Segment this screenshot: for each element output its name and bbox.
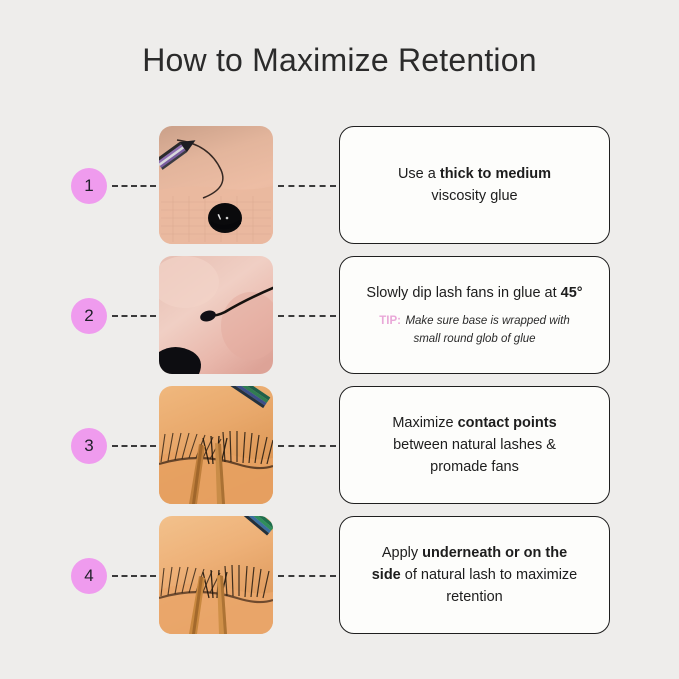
step-number-badge-3: 3 <box>71 428 107 464</box>
connector-dash-right-2 <box>278 315 336 317</box>
step-row-4: 4 <box>0 516 679 634</box>
connector-dash-left-4 <box>112 575 156 577</box>
step-text-line: side of natural lash to maximize <box>372 564 578 586</box>
step-number-badge-4: 4 <box>71 558 107 594</box>
step-row-3: 3 <box>0 386 679 504</box>
step-row-1: 1 <box>0 126 679 244</box>
step-text-line: Slowly dip lash fans in glue at 45° <box>366 282 582 304</box>
step-text-line: Apply underneath or on the <box>382 542 567 564</box>
step-number-badge-1: 1 <box>71 168 107 204</box>
tip-text-line: small round glob of glue <box>379 331 569 348</box>
step-photo-2 <box>159 256 273 374</box>
infographic-page: How to Maximize Retention 1 <box>0 0 679 679</box>
step-number-badge-2: 2 <box>71 298 107 334</box>
step-number-label: 1 <box>84 176 93 196</box>
page-title: How to Maximize Retention <box>0 42 679 79</box>
tip-label: TIP: <box>379 315 401 327</box>
step-text-line: Use a thick to medium <box>398 163 551 185</box>
step-photo-4 <box>159 516 273 634</box>
step-textbox-2: Slowly dip lash fans in glue at 45° TIP:… <box>339 256 610 374</box>
step-textbox-3: Maximize contact points between natural … <box>339 386 610 504</box>
connector-dash-right-1 <box>278 185 336 187</box>
step-photo-1 <box>159 126 273 244</box>
step-text-line: between natural lashes & <box>393 434 556 456</box>
step-tip: TIP: Make sure base is wrapped with smal… <box>379 311 569 348</box>
step-textbox-1: Use a thick to medium viscosity glue <box>339 126 610 244</box>
step-text-line: retention <box>446 586 502 608</box>
step-text-line: viscosity glue <box>431 185 517 207</box>
step-textbox-4: Apply underneath or on the side of natur… <box>339 516 610 634</box>
step-number-label: 4 <box>84 566 93 586</box>
connector-dash-left-1 <box>112 185 156 187</box>
step-text-line: promade fans <box>430 456 519 478</box>
connector-dash-right-3 <box>278 445 336 447</box>
tip-text-line: Make sure base is wrapped with <box>405 315 569 327</box>
step-row-2: 2 <box>0 256 679 374</box>
tip-first-line: TIP: Make sure base is wrapped with <box>379 311 569 330</box>
connector-dash-right-4 <box>278 575 336 577</box>
connector-dash-left-2 <box>112 315 156 317</box>
step-number-label: 3 <box>84 436 93 456</box>
step-photo-3 <box>159 386 273 504</box>
connector-dash-left-3 <box>112 445 156 447</box>
step-text-line: Maximize contact points <box>392 412 556 434</box>
step-number-label: 2 <box>84 306 93 326</box>
